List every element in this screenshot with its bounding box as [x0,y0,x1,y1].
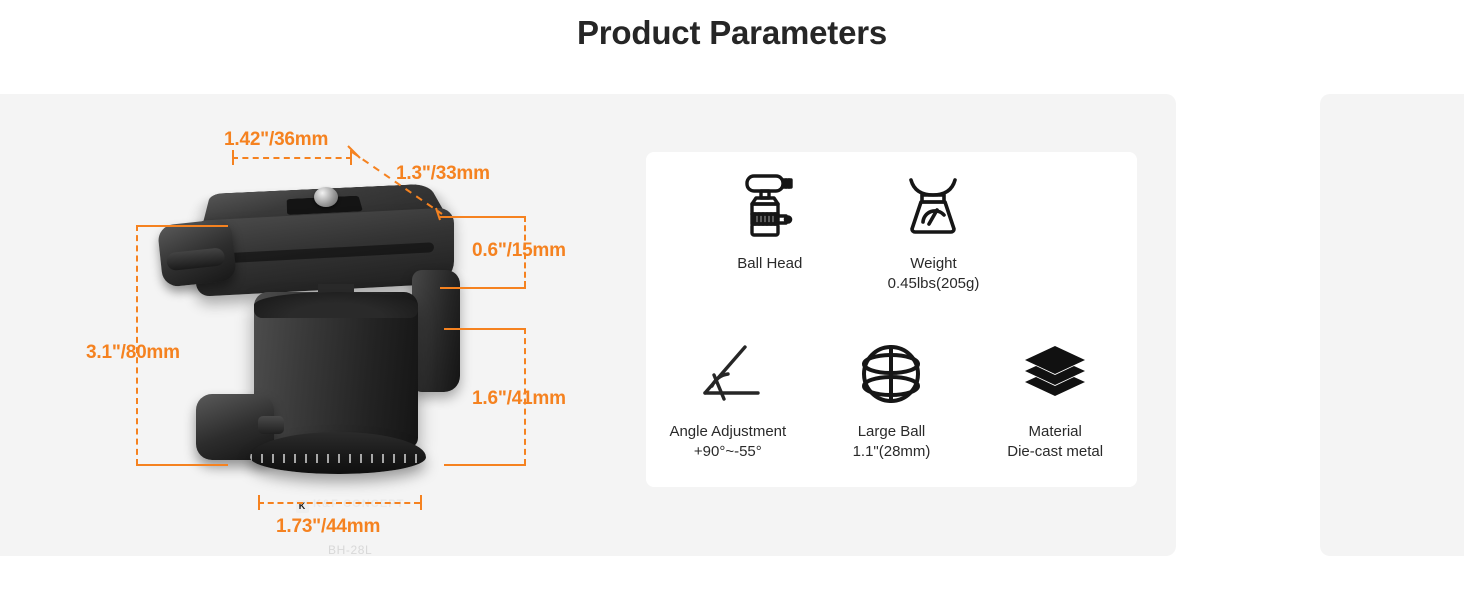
feature-title: Angle Adjustment [669,422,786,442]
tick-base-width-left [258,495,260,510]
product-illustration: KK&F CONCEPT BH-28L [0,94,620,556]
feature-ball-head: Ball Head [688,152,852,274]
feature-title: Weight [910,254,956,274]
feature-angle-adjustment: Angle Adjustment +90°~-55° [646,320,810,463]
feature-weight: Weight 0.45lbs(205g) [852,152,1016,295]
tick-top-width-left [232,150,234,165]
leader-line-plate-bottom [440,287,526,289]
dimension-label-top-width: 1.42"/36mm [224,129,328,151]
feature-subtitle: 1.1"(28mm) [853,442,931,462]
plate-screw [314,187,338,207]
brand-logo: KK&F CONCEPT [296,498,405,513]
adjacent-panel-preview [1320,94,1464,556]
feature-card: Ball Head Weight 0.45lbs(205g) [646,152,1137,487]
brand-name: K&F CONCEPT [313,498,405,510]
feature-title: Large Ball [858,422,926,442]
leader-line-ball-bottom [444,464,526,466]
sphere-icon [860,336,922,412]
leader-line-plate-top [440,216,526,218]
model-number: BH-28L [328,543,372,557]
feature-subtitle: 0.45lbs(205g) [888,274,980,294]
leader-line-total-bottom [136,464,228,466]
dimension-label-plate-depth: 1.3"/33mm [396,163,490,185]
dimension-label-plate-height: 0.6"/15mm [472,240,566,262]
feature-subtitle: +90°~-55° [694,442,762,462]
dimension-label-total-height: 3.1"/80mm [86,342,180,364]
layers-icon [1023,336,1087,412]
leader-line-ball-top [444,328,526,330]
dimension-label-base-width: 1.73"/44mm [276,516,380,538]
feature-title: Ball Head [737,254,802,274]
ball-head-icon [739,168,801,244]
page-title: Product Parameters [0,14,1464,52]
clamp-lock-knob [157,218,237,287]
feature-grid: Ball Head Weight 0.45lbs(205g) [646,152,1137,487]
angle-icon [692,336,764,412]
leader-line-total-top [136,225,228,227]
feature-material: Material Die-cast metal [973,320,1137,463]
panning-base-ring [250,432,426,474]
scale-icon [901,168,965,244]
dimension-line-top-width [232,157,352,159]
feature-large-ball: Large Ball 1.1"(28mm) [810,320,974,463]
panning-scale-ticks [250,454,426,463]
dimension-label-ball-height: 1.6"/41mm [472,388,566,410]
tick-base-width-right [420,495,422,510]
dimension-line-base-width [258,502,420,504]
product-parameters-page: Product Parameters KK&F CONCEPT BH-28L 1… [0,0,1464,600]
feature-subtitle: Die-cast metal [1007,442,1103,462]
feature-title: Material [1028,422,1081,442]
